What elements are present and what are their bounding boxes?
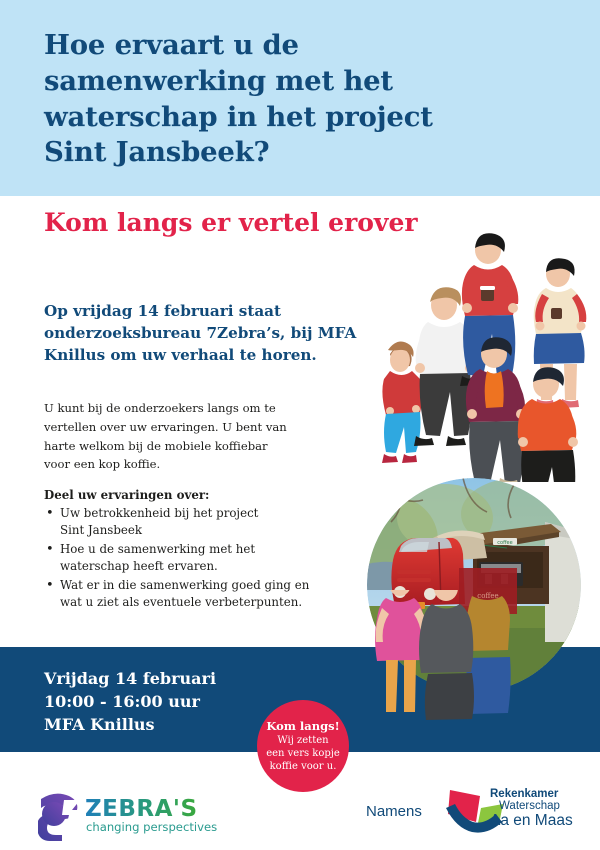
status-badge: Kom langs! Wij zetten een vers kopje kof…: [257, 700, 349, 792]
body-paragraph: U kunt bij de onderzoekers langs om te v…: [44, 399, 332, 474]
event-details: Vrijdag 14 februari 10:00 - 16:00 uur MF…: [44, 667, 216, 737]
subheadline: Kom langs er vertel erover: [44, 208, 418, 238]
photo-foreground-people: [368, 590, 518, 720]
page-title: Hoe ervaart u de samenwerking met het wa…: [44, 28, 464, 171]
aam-line-waterschap: Waterschap: [490, 800, 573, 812]
namens-label: Namens: [366, 803, 422, 820]
zebra-logo: ZEBRA'S changing perspectives: [38, 789, 228, 841]
badge-title: Kom langs!: [266, 719, 339, 734]
body-line-3: harte welkom bij de mobiele koffiebar: [44, 437, 332, 456]
zebra-wordmark: ZEBRA'S: [85, 796, 198, 822]
zebra-tagline: changing perspectives: [86, 820, 217, 834]
bullet-3-line-1: Wat er in die samenwerking goed ging en: [60, 577, 344, 594]
aam-line-aaenmaas: Aa en Maas: [490, 813, 573, 830]
list-item: Wat er in die samenwerking goed ging en …: [44, 577, 344, 612]
event-time: 10:00 - 16:00 uur: [44, 690, 216, 713]
headline-line-4: Sint Jansbeek?: [44, 135, 464, 171]
event-date: Vrijdag 14 februari: [44, 667, 216, 690]
headline-line-3: waterschap in het project: [44, 100, 464, 136]
poster-canvas: Hoe ervaart u de samenwerking met het wa…: [0, 0, 600, 850]
person-grey-jacket-man: [419, 590, 474, 720]
lead-paragraph: Op vrijdag 14 februari staat onderzoeksb…: [44, 300, 344, 366]
svg-text:coffee: coffee: [497, 540, 512, 546]
list-item: Hoe u de samenwerking met het waterschap…: [44, 541, 344, 576]
aa-en-maas-wordmark: Rekenkamer Waterschap Aa en Maas: [490, 788, 573, 830]
bullet-3-line-2: wat u ziet als eventuele verbeterpunten.: [60, 594, 344, 611]
event-location: MFA Knillus: [44, 713, 216, 736]
bullet-1-line-2: Sint Jansbeek: [60, 522, 344, 539]
body-line-4: voor een kop koffie.: [44, 455, 332, 474]
experience-topics-list: Uw betrokkenheid bij het project Sint Ja…: [44, 505, 344, 613]
lead-line-2: onderzoeksbureau 7Zebra’s, bij MFA: [44, 322, 344, 344]
lead-line-3: Knillus om uw verhaal te horen.: [44, 344, 344, 366]
body-line-2: vertellen over uw ervaringen. U bent van: [44, 418, 332, 437]
zebra-mark-icon: [38, 794, 80, 841]
bullets-heading: Deel uw ervaringen over:: [44, 488, 209, 502]
bullet-2-line-1: Hoe u de samenwerking met het: [60, 541, 344, 558]
people-illustration: [366, 232, 600, 482]
lead-line-1: Op vrijdag 14 februari staat: [44, 300, 344, 322]
badge-line-3: koffie voor u.: [270, 760, 337, 773]
headline-line-2: samenwerking met het: [44, 64, 464, 100]
bullet-1-line-1: Uw betrokkenheid bij het project: [60, 505, 344, 522]
aam-line-rekenkamer: Rekenkamer: [490, 788, 573, 800]
badge-line-1: Wij zetten: [277, 734, 328, 747]
body-line-1: U kunt bij de onderzoekers langs om te: [44, 399, 332, 418]
headline-line-1: Hoe ervaart u de: [44, 28, 464, 64]
list-item: Uw betrokkenheid bij het project Sint Ja…: [44, 505, 344, 540]
badge-line-2: een vers kopje: [266, 747, 340, 760]
bullet-2-line-2: waterschap heeft ervaren.: [60, 558, 344, 575]
